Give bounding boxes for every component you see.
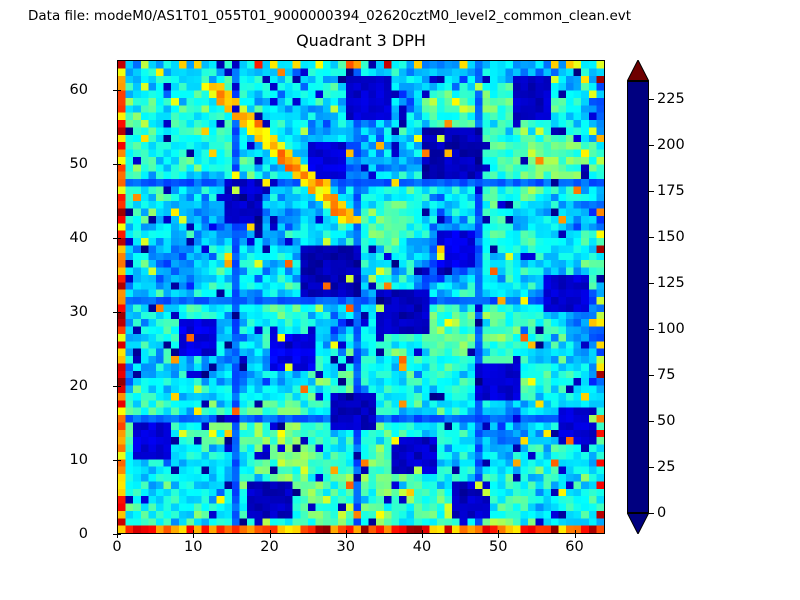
colorbar-tick-mark [649,421,654,422]
x-tick-label: 0 [112,539,121,555]
x-tick-mark [193,534,194,538]
heatmap-image[interactable] [118,61,604,533]
colorbar-extend-top-icon [627,60,649,81]
colorbar-tick-label: 150 [657,229,685,245]
y-tick-label: 60 [70,82,88,98]
page-title: Quadrant 3 DPH [117,31,605,50]
colorbar-tick-label: 50 [657,413,675,429]
x-tick-mark [422,534,423,538]
colorbar-tick-mark [649,513,654,514]
x-tick-label: 30 [337,539,355,555]
figure-canvas: Data file: modeM0/AS1T01_055T01_90000003… [0,0,800,600]
colorbar-tick-mark [649,145,654,146]
x-tick-mark-inner [193,530,194,534]
x-tick-mark-inner [498,530,499,534]
colorbar-tick-label: 175 [657,183,685,199]
x-tick-label: 40 [413,539,431,555]
colorbar-tick-label: 125 [657,275,685,291]
datafile-label: Data file: modeM0/AS1T01_055T01_90000003… [28,8,631,24]
x-tick-mark [575,534,576,538]
x-tick-mark-inner [575,530,576,534]
x-tick-mark [346,534,347,538]
colorbar-tick-label: 75 [657,367,675,383]
y-tick-mark-inner [117,238,121,239]
colorbar-tick-label: 0 [657,505,666,521]
y-tick-mark-inner [117,164,121,165]
colorbar-tick-mark [649,283,654,284]
x-tick-mark-inner [422,530,423,534]
y-tick-label: 20 [70,378,88,394]
y-tick-label: 40 [70,230,88,246]
y-tick-label: 10 [70,452,88,468]
x-tick-label: 60 [565,539,583,555]
colorbar-tick-mark [649,467,654,468]
y-tick-label: 50 [70,156,88,172]
colorbar-tick-label: 225 [657,91,685,107]
y-tick-mark-inner [117,534,121,535]
heatmap-axes[interactable] [117,60,605,534]
y-tick-label: 0 [79,526,88,542]
colorbar-tick-label: 25 [657,459,675,475]
x-tick-mark-inner [346,530,347,534]
y-tick-mark-inner [117,90,121,91]
y-tick-mark-inner [117,460,121,461]
colorbar-tick-mark [649,99,654,100]
colorbar-tick-label: 100 [657,321,685,337]
x-tick-mark [498,534,499,538]
x-tick-mark-inner [270,530,271,534]
y-tick-mark-inner [117,386,121,387]
colorbar-tick-mark [649,329,654,330]
x-tick-label: 20 [260,539,278,555]
x-tick-label: 50 [489,539,507,555]
colorbar-tick-mark [649,237,654,238]
colorbar-tick-label: 200 [657,137,685,153]
colorbar[interactable] [627,60,649,534]
colorbar-extend-bottom-icon [627,513,649,534]
colorbar-gradient[interactable] [627,81,649,513]
y-tick-label: 30 [70,304,88,320]
x-tick-mark [270,534,271,538]
colorbar-tick-mark [649,375,654,376]
x-tick-label: 10 [184,539,202,555]
colorbar-tick-mark [649,191,654,192]
y-tick-mark-inner [117,312,121,313]
